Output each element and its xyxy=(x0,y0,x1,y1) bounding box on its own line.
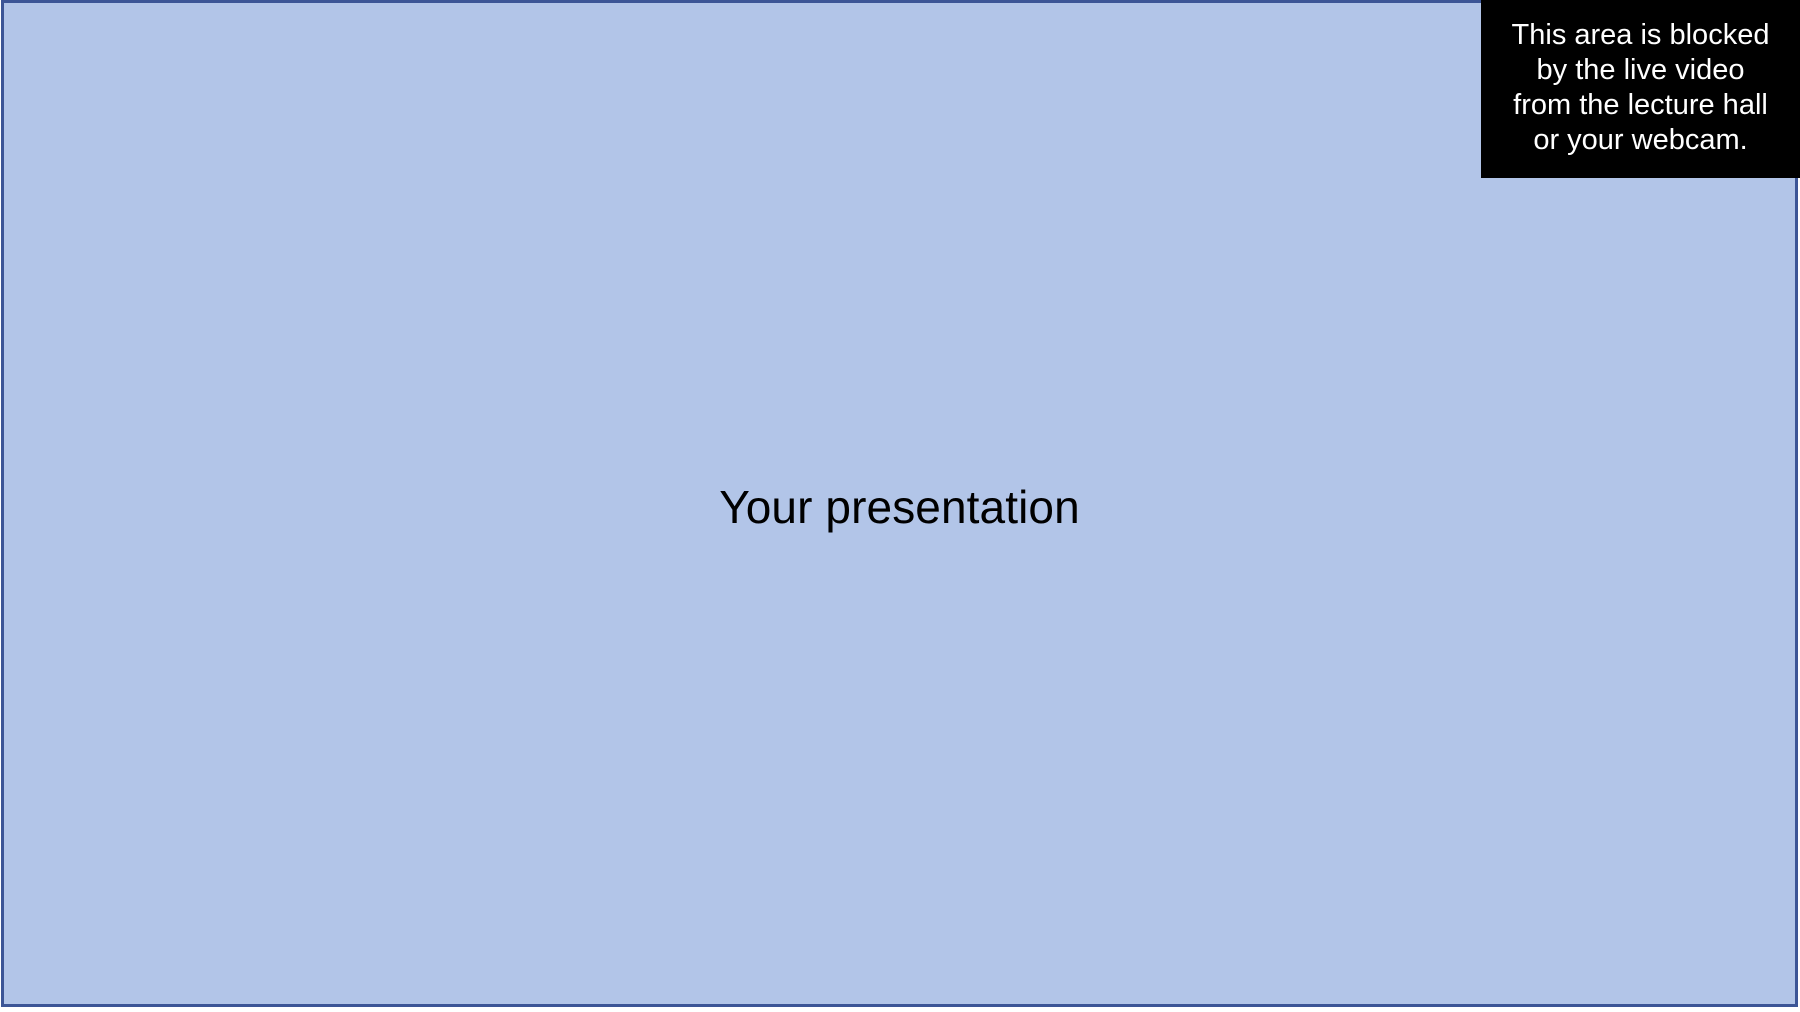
webcam-blocked-overlay: This area is blocked by the live video f… xyxy=(1481,0,1800,178)
blocked-overlay-line-1: This area is blocked xyxy=(1512,18,1770,53)
presentation-screen: Your presentation This area is blocked b… xyxy=(0,0,1800,1012)
blocked-overlay-line-2: by the live video xyxy=(1537,53,1745,88)
blocked-overlay-line-4: or your webcam. xyxy=(1533,123,1747,158)
slide-title-text[interactable]: Your presentation xyxy=(4,481,1795,533)
blocked-overlay-line-3: from the lecture hall xyxy=(1513,88,1768,123)
